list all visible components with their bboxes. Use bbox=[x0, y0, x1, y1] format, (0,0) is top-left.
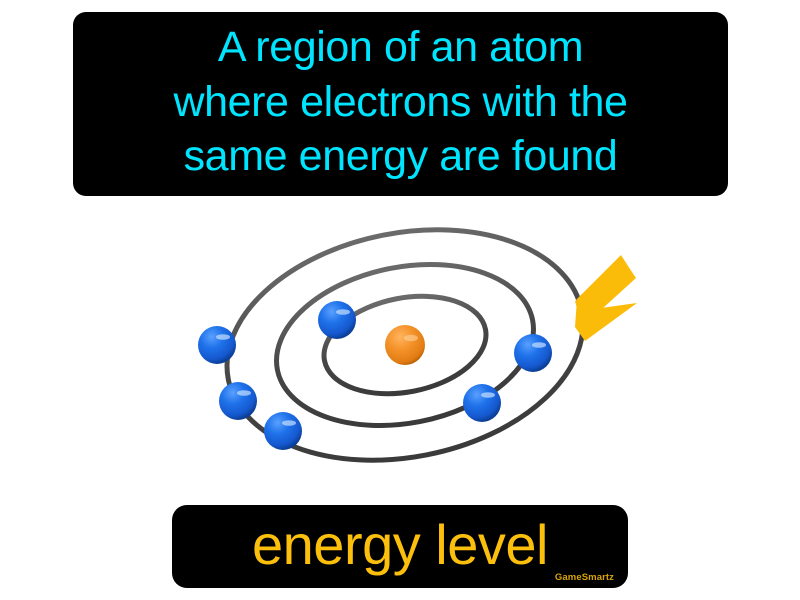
electron-middle-right bbox=[463, 384, 501, 422]
pointer-arrow-icon bbox=[575, 255, 637, 341]
nucleus bbox=[385, 325, 425, 365]
definition-line-3: same energy are found bbox=[184, 129, 618, 184]
electron-outer-bottom-left bbox=[264, 412, 302, 450]
watermark-label: GameSmartz bbox=[555, 572, 614, 583]
atom-diagram bbox=[165, 205, 725, 495]
electron-inner-upper-left bbox=[318, 301, 356, 339]
term-label: energy level bbox=[252, 517, 548, 577]
definition-line-2: where electrons with the bbox=[173, 75, 627, 130]
definition-card: A region of an atom where electrons with… bbox=[73, 12, 728, 196]
term-card: energy level GameSmartz bbox=[172, 505, 628, 588]
electron-outer-left bbox=[198, 326, 236, 364]
definition-line-1: A region of an atom bbox=[218, 20, 583, 75]
electron-outer-right bbox=[514, 334, 552, 372]
electron-outer-lower-left bbox=[219, 382, 257, 420]
atom-svg bbox=[165, 205, 725, 495]
